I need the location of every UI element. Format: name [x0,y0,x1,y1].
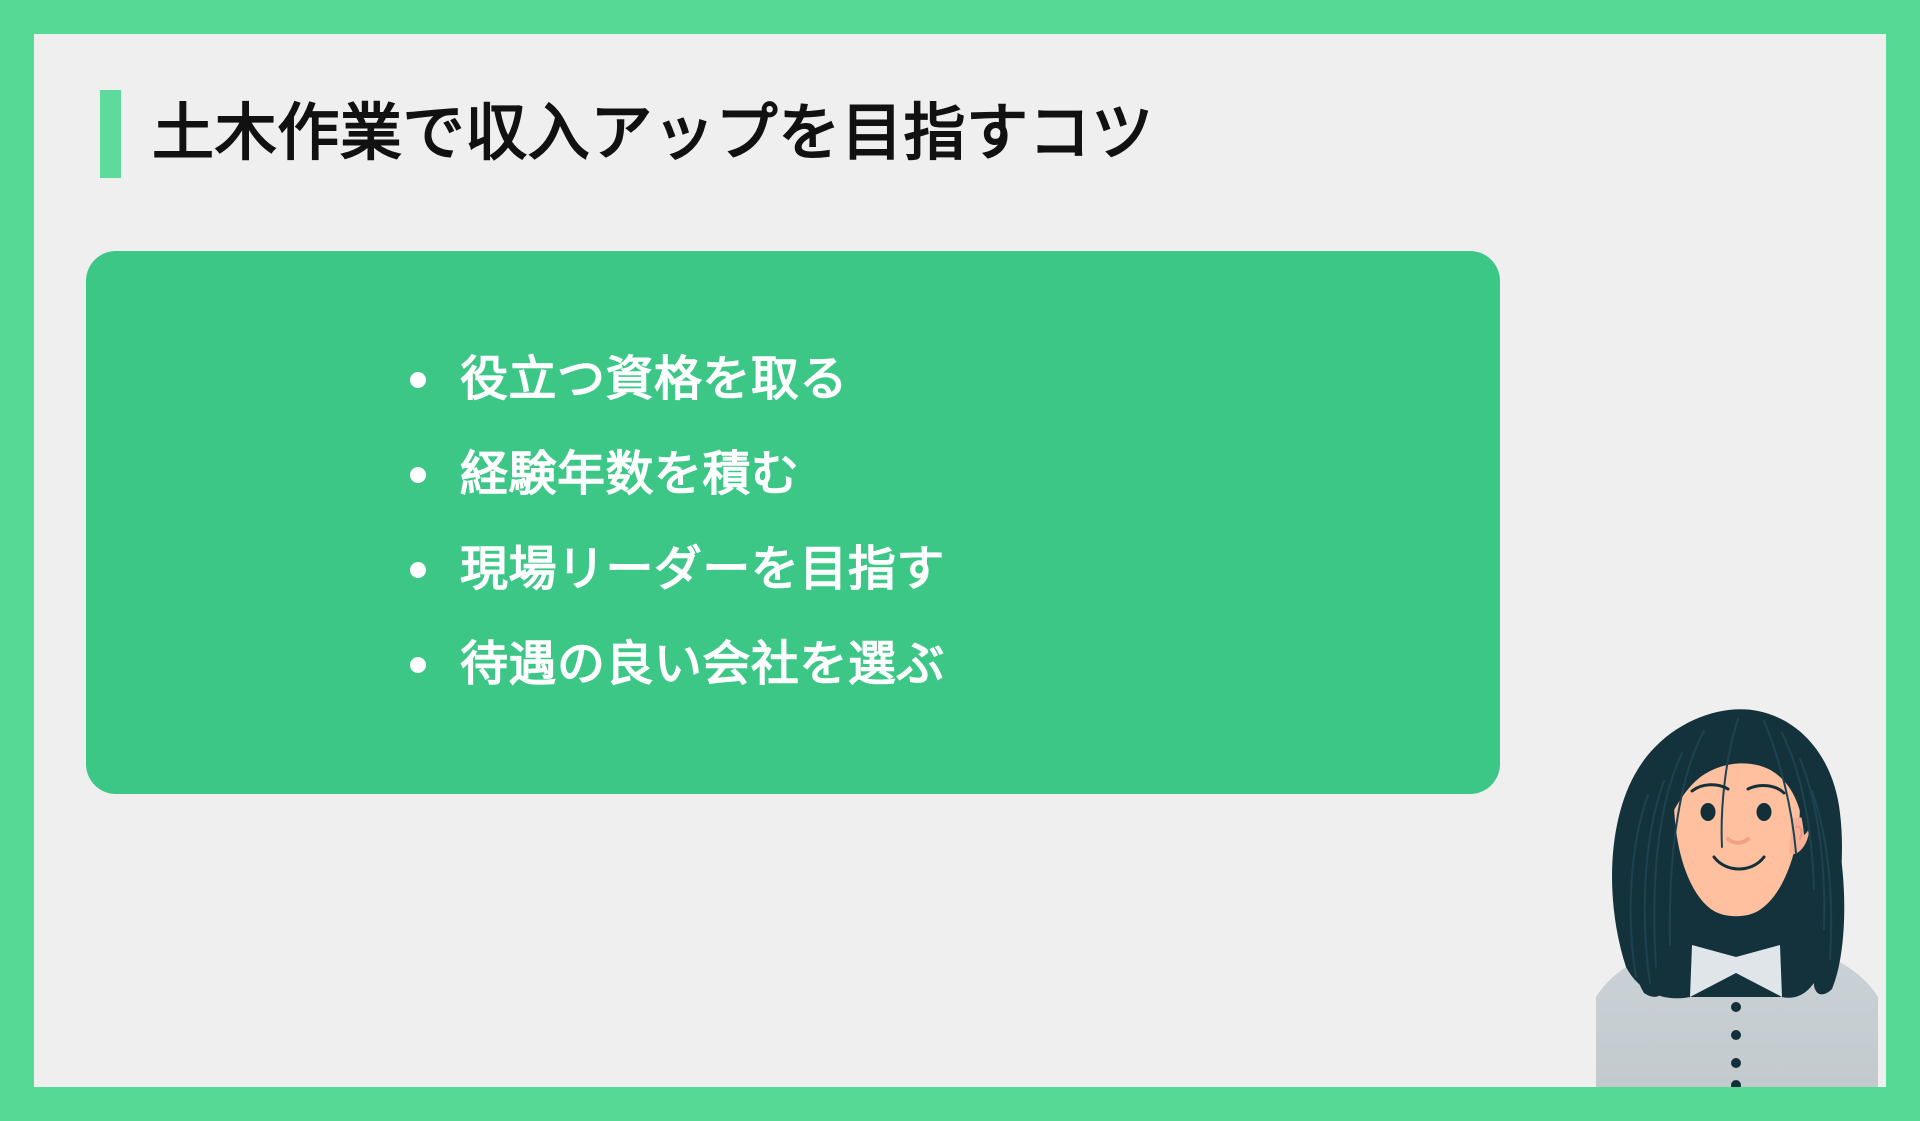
list-item-label: 役立つ資格を取る [460,354,848,407]
slide-content-area: 土木作業で収入アップを目指すコツ 役立つ資格を取る 経験年数を積む 現場リーダー… [34,34,1886,1087]
slide-frame: 土木作業で収入アップを目指すコツ 役立つ資格を取る 経験年数を積む 現場リーダー… [0,0,1920,1121]
list-item: 現場リーダーを目指す [410,523,945,618]
bullet-dot-icon [410,467,426,483]
smiling-woman-illustration [1586,667,1886,1087]
list-item-label: 現場リーダーを目指す [460,544,945,597]
bullet-card: 役立つ資格を取る 経験年数を積む 現場リーダーを目指す 待遇の良い会社を選ぶ [86,251,1500,794]
bullet-list: 役立つ資格を取る 経験年数を積む 現場リーダーを目指す 待遇の良い会社を選ぶ [86,251,1500,794]
list-item: 待遇の良い会社を選ぶ [410,618,945,713]
bullet-dot-icon [410,372,426,388]
list-item-label: 経験年数を積む [460,449,799,502]
list-item: 役立つ資格を取る [410,333,848,428]
list-item-label: 待遇の良い会社を選ぶ [460,639,945,692]
title-accent-bar [100,90,121,178]
woman-illustration-graphic [1586,667,1886,1087]
page-title: 土木作業で収入アップを目指すコツ [100,86,1154,182]
bullet-dot-icon [410,657,426,673]
list-item: 経験年数を積む [410,428,799,523]
page-title-text: 土木作業で収入アップを目指すコツ [152,103,1154,165]
bullet-dot-icon [410,562,426,578]
